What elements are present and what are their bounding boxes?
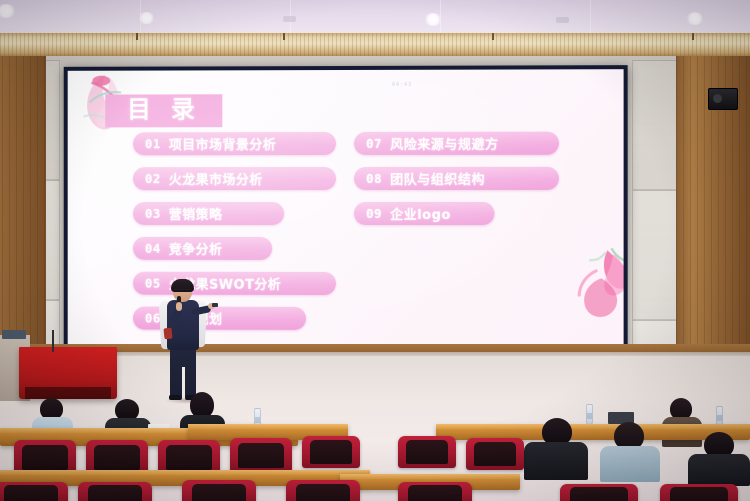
wall-speaker-icon <box>708 88 738 110</box>
clicker-icon <box>212 303 218 307</box>
auditorium-seat <box>0 482 68 501</box>
cabinet-equipment <box>2 330 26 339</box>
audience-person <box>600 422 660 480</box>
ceiling-vent <box>556 17 569 23</box>
toc-item-number: 07 <box>366 136 382 151</box>
person-body <box>524 442 588 480</box>
toc-item-number: 02 <box>145 171 161 186</box>
red-draped-table <box>19 347 117 399</box>
toc-item-number: 08 <box>366 171 382 186</box>
auditorium-seat <box>560 484 638 501</box>
ceiling-downlight <box>0 4 16 18</box>
audience-person <box>524 418 588 478</box>
presenter-hand <box>176 302 182 311</box>
auditorium-seat <box>86 440 148 474</box>
auditorium-seat <box>158 440 220 474</box>
toc-item-label: 风险来源与规避方 <box>390 134 498 153</box>
toc-item-number: 01 <box>145 136 161 151</box>
ceiling <box>0 0 750 36</box>
toc-item-02[interactable]: 02 火龙果市场分析 <box>133 167 336 190</box>
toc-item-number: 04 <box>145 241 161 256</box>
toc-item-label: 团队与组织结构 <box>390 169 485 188</box>
auditorium-seat <box>466 438 524 470</box>
auditorium-seat <box>182 480 256 501</box>
auditorium-seat <box>230 438 292 472</box>
toc-item-label: 营销策略 <box>169 204 223 223</box>
toc-column-right: 07 风险来源与规避方 08 团队与组织结构 09 企业logo <box>354 132 559 237</box>
slide-title: 目 录 <box>105 94 222 127</box>
auditorium-seat <box>14 440 76 474</box>
toc-item-01[interactable]: 01 项目市场背景分析 <box>133 132 336 155</box>
ceiling-downlight <box>686 12 704 25</box>
audience-person <box>688 432 750 484</box>
glasses-icon <box>174 289 191 293</box>
auditorium-seat <box>660 484 738 501</box>
person-body <box>688 454 750 486</box>
toc-item-label: 企业logo <box>390 204 451 223</box>
toc-item-04[interactable]: 04 竞争分析 <box>133 237 272 260</box>
auditorium-seat <box>286 480 360 501</box>
presenter-jacket-accent <box>163 328 172 340</box>
wood-wall-panel-left <box>0 56 46 356</box>
toc-item-09[interactable]: 09 企业logo <box>354 202 494 225</box>
auditorium-seat <box>302 436 360 468</box>
toc-item-number: 03 <box>145 206 161 221</box>
lecture-hall-scene: 04:43 目 录 01 项目市场背景分析 02 火龙果市场分析 03 营销策略 <box>0 0 750 501</box>
toc-item-label: 竞争分析 <box>169 239 223 258</box>
toc-item-label: 项目市场背景分析 <box>169 134 276 153</box>
pitaya-flower-icon <box>567 248 624 331</box>
auditorium-seat <box>398 482 472 501</box>
projection-screen: 04:43 目 录 01 项目市场背景分析 02 火龙果市场分析 03 营销策略 <box>64 65 628 353</box>
auditorium-seat <box>78 482 152 501</box>
ceiling-vent <box>283 16 296 22</box>
mic-stand-icon <box>52 330 54 352</box>
presenter <box>158 281 214 401</box>
slide-surface: 04:43 目 录 01 项目市场背景分析 02 火龙果市场分析 03 营销策略 <box>68 69 624 349</box>
ceiling-downlight <box>138 12 155 24</box>
auditorium-seat <box>398 436 456 468</box>
ceiling-downlight <box>424 13 442 26</box>
slide-corner-mark: 04:43 <box>392 82 412 88</box>
person-body <box>600 446 660 482</box>
ceiling-valance <box>0 33 750 58</box>
toc-item-03[interactable]: 03 营销策略 <box>133 202 284 225</box>
toc-item-number: 09 <box>366 206 382 221</box>
toc-item-label: 火龙果市场分析 <box>169 169 263 188</box>
slide-title-text: 目 录 <box>127 95 201 123</box>
toc-item-08[interactable]: 08 团队与组织结构 <box>354 167 559 190</box>
toc-item-07[interactable]: 07 风险来源与规避方 <box>354 132 559 155</box>
